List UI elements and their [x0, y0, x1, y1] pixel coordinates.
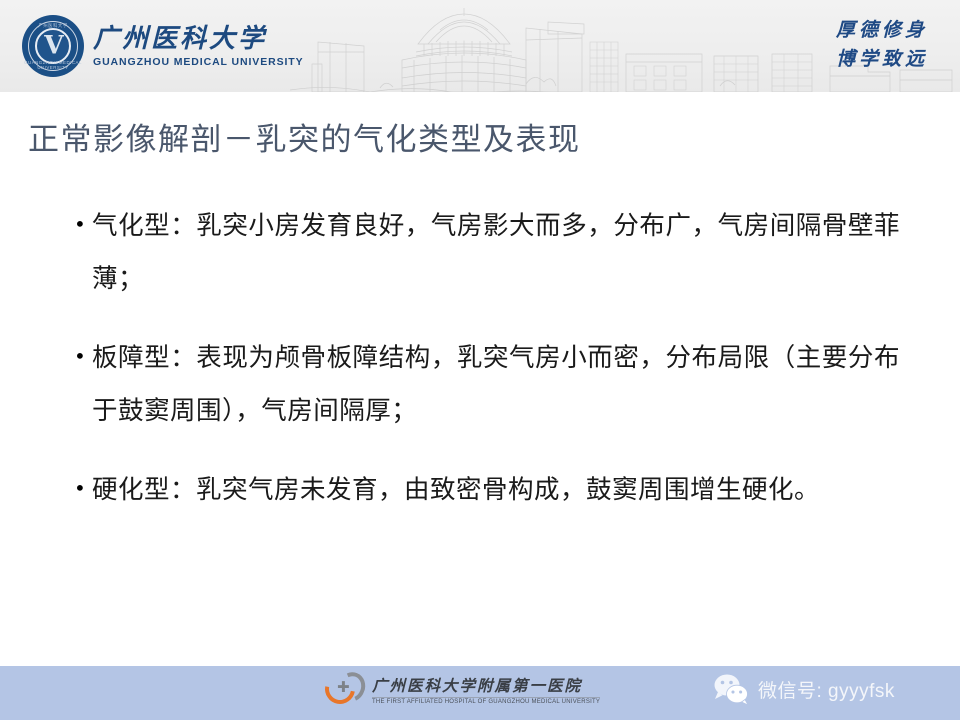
wechat-id-label: 微信号: gyyyfsk [758, 676, 895, 703]
university-motto: 厚德修身 博学致远 [836, 16, 928, 73]
hospital-name-cn: 广州医科大学附属第一医院 [372, 674, 600, 698]
list-item: • 气化型：乳突小房发育良好，气房影大而多，分布广，气房间隔骨壁菲薄； [70, 200, 900, 306]
hospital-heart-logo-icon: ✚ [325, 672, 365, 706]
university-name-en: GUANGZHOU MEDICAL UNIVERSITY [93, 56, 304, 68]
motto-line-1: 厚德修身 [836, 16, 928, 45]
bullet-marker-icon: • [70, 200, 92, 248]
university-name-cn: 广州医科大学 [93, 26, 304, 53]
slide-footer: ✚ 广州医科大学附属第一医院 THE FIRST AFFILIATED HOSP… [0, 666, 960, 720]
hospital-logo: ✚ 广州医科大学附属第一医院 THE FIRST AFFILIATED HOSP… [325, 672, 600, 706]
bullet-marker-icon: • [70, 464, 92, 512]
bullet-text-1: 气化型：乳突小房发育良好，气房影大而多，分布广，气房间隔骨壁菲薄； [92, 200, 900, 306]
university-logo: 广州医科大学 V GUANGZHOU MEDICAL UNIVERSITY 广州… [22, 9, 284, 83]
university-crest-icon: 广州医科大学 V GUANGZHOU MEDICAL UNIVERSITY [22, 15, 84, 77]
hospital-name-en: THE FIRST AFFILIATED HOSPITAL OF GUANGZH… [372, 699, 600, 705]
list-item: • 硬化型：乳突气房未发育，由致密骨构成，鼓窦周围增生硬化。 [70, 464, 900, 517]
slide-header: 广州医科大学 V GUANGZHOU MEDICAL UNIVERSITY 广州… [0, 0, 960, 92]
wechat-badge: 微信号: gyyyfsk [712, 673, 895, 705]
crest-arc-bottom-text: GUANGZHOU MEDICAL UNIVERSITY [22, 60, 84, 70]
wechat-icon [712, 673, 750, 705]
crest-arc-top-text: 广州医科大学 [22, 23, 84, 29]
crest-letter: V [44, 31, 61, 60]
page-title: 正常影像解剖－乳突的气化类型及表现 [28, 114, 581, 159]
slide-content: • 气化型：乳突小房发育良好，气房影大而多，分布广，气房间隔骨壁菲薄； • 板障… [70, 200, 900, 543]
bullet-text-2: 板障型：表现为颅骨板障结构，乳突气房小而密，分布局限（主要分布于鼓窦周围），气房… [92, 332, 900, 438]
bullet-text-3: 硬化型：乳突气房未发育，由致密骨构成，鼓窦周围增生硬化。 [92, 464, 900, 517]
motto-line-2: 博学致远 [836, 45, 928, 74]
list-item: • 板障型：表现为颅骨板障结构，乳突气房小而密，分布局限（主要分布于鼓窦周围），… [70, 332, 900, 438]
bullet-marker-icon: • [70, 332, 92, 380]
